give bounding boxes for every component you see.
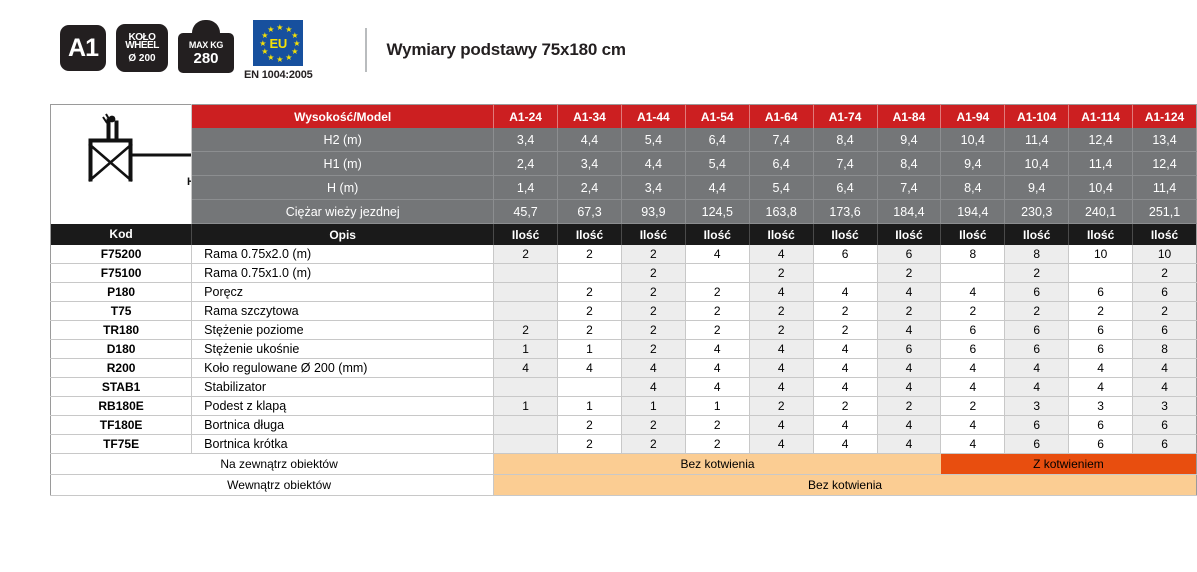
anchoring-value: Bez kotwienia xyxy=(494,475,1197,496)
part-quantity xyxy=(494,435,558,454)
part-quantity: 2 xyxy=(877,302,941,321)
part-quantity: 4 xyxy=(685,340,749,359)
spec-row: Ciężar wieży jezdnej45,767,393,9124,5163… xyxy=(51,200,1197,224)
part-quantity: 2 xyxy=(749,321,813,340)
spec-row: H1 (m)2,43,44,45,46,47,48,49,410,411,412… xyxy=(51,152,1197,176)
header-ilosc: Ilość xyxy=(1133,224,1197,246)
spec-value: 173,6 xyxy=(813,200,877,224)
part-quantity: 6 xyxy=(1005,321,1069,340)
part-quantity: 4 xyxy=(941,359,1005,378)
spec-value: 8,4 xyxy=(813,128,877,152)
part-quantity: 4 xyxy=(941,283,1005,302)
spec-value: 6,4 xyxy=(749,152,813,176)
table-row: F75100Rama 0.75x1.0 (m)22222 xyxy=(51,264,1197,283)
part-quantity: 1 xyxy=(494,397,558,416)
header-ilosc: Ilość xyxy=(749,224,813,246)
model-header-a1-124: A1-124 xyxy=(1133,105,1197,129)
part-quantity: 4 xyxy=(1069,359,1133,378)
spec-row-label: H (m) xyxy=(192,176,494,200)
part-quantity: 2 xyxy=(558,416,622,435)
spec-row: H2 (m)3,44,45,46,47,48,49,410,411,412,41… xyxy=(51,128,1197,152)
header-ilosc: Ilość xyxy=(813,224,877,246)
part-quantity: 2 xyxy=(749,397,813,416)
spec-value: 5,4 xyxy=(621,128,685,152)
part-quantity: 4 xyxy=(558,359,622,378)
part-quantity xyxy=(941,264,1005,283)
part-quantity: 4 xyxy=(813,416,877,435)
part-quantity: 2 xyxy=(685,321,749,340)
part-quantity: 2 xyxy=(941,302,1005,321)
part-code: STAB1 xyxy=(51,378,192,397)
part-quantity: 6 xyxy=(877,245,941,264)
part-quantity: 2 xyxy=(494,321,558,340)
spec-value: 4,4 xyxy=(558,128,622,152)
model-header-a1-74: A1-74 xyxy=(813,105,877,129)
spec-value: 67,3 xyxy=(558,200,622,224)
badge-wheel: KOŁO WHEEL Ø 200 xyxy=(116,24,168,72)
part-quantity: 6 xyxy=(877,340,941,359)
part-description: Podest z klapą xyxy=(192,397,494,416)
part-quantity: 4 xyxy=(813,378,877,397)
part-quantity: 4 xyxy=(1005,359,1069,378)
part-quantity xyxy=(494,264,558,283)
column-header-row: KodOpisIlośćIlośćIlośćIlośćIlośćIlośćIlo… xyxy=(51,224,1197,246)
part-quantity: 4 xyxy=(494,359,558,378)
diagram-cell: H1 H H2 xyxy=(51,105,192,224)
header-divider xyxy=(365,28,367,72)
part-quantity xyxy=(494,378,558,397)
header-ilosc: Ilość xyxy=(877,224,941,246)
part-quantity: 4 xyxy=(1133,359,1197,378)
spec-row-label: H1 (m) xyxy=(192,152,494,176)
part-quantity: 6 xyxy=(1005,435,1069,454)
part-quantity: 2 xyxy=(813,321,877,340)
part-description: Bortnica krótka xyxy=(192,435,494,454)
spec-value: 2,4 xyxy=(558,176,622,200)
table-row: TF180EBortnica długa2224444666 xyxy=(51,416,1197,435)
specification-table: H1 H H2 Wysokość/ModelA1-24A1-34A1-44A1-… xyxy=(50,104,1197,496)
part-quantity: 4 xyxy=(749,340,813,359)
part-quantity: 4 xyxy=(749,245,813,264)
part-quantity: 1 xyxy=(685,397,749,416)
badge-maxkg-value: 280 xyxy=(193,51,218,66)
table-row: T75Rama szczytowa2222222222 xyxy=(51,302,1197,321)
part-quantity: 2 xyxy=(749,264,813,283)
part-quantity: 10 xyxy=(1133,245,1197,264)
part-quantity: 2 xyxy=(621,435,685,454)
part-quantity: 4 xyxy=(1133,378,1197,397)
table-header-row: H1 H H2 Wysokość/ModelA1-24A1-34A1-44A1-… xyxy=(51,105,1197,129)
spec-value: 11,4 xyxy=(1005,128,1069,152)
badge-wheel-diameter: Ø 200 xyxy=(128,54,155,64)
table-row: P180Poręcz2224444666 xyxy=(51,283,1197,302)
spec-value: 8,4 xyxy=(941,176,1005,200)
badge-en-standard: EN 1004:2005 xyxy=(244,69,313,81)
part-quantity: 2 xyxy=(558,245,622,264)
part-description: Koło regulowane Ø 200 (mm) xyxy=(192,359,494,378)
anchoring-value: Z kotwieniem xyxy=(941,454,1197,475)
spec-value: 124,5 xyxy=(685,200,749,224)
part-quantity: 4 xyxy=(877,378,941,397)
table-row: F75200Rama 0.75x2.0 (m)2224466881010 xyxy=(51,245,1197,264)
header-opis: Opis xyxy=(192,224,494,246)
part-quantity xyxy=(1069,264,1133,283)
badge-eu-label: EU xyxy=(270,36,287,51)
page-header: A1 KOŁO WHEEL Ø 200 MAX KG 280 EU ★ ★ ★ … xyxy=(0,0,1197,100)
header-ilosc: Ilość xyxy=(685,224,749,246)
page-title: Wymiary podstawy 75x180 cm xyxy=(387,40,626,60)
part-quantity: 3 xyxy=(1069,397,1133,416)
eu-flag-icon: EU ★ ★ ★ ★ ★ ★ ★ ★ ★ ★ ★ ★ xyxy=(253,20,303,66)
spec-value: 9,4 xyxy=(941,152,1005,176)
table-row: R200Koło regulowane Ø 200 (mm)4444444444… xyxy=(51,359,1197,378)
part-quantity: 6 xyxy=(1133,435,1197,454)
part-description: Rama szczytowa xyxy=(192,302,494,321)
part-quantity: 4 xyxy=(621,378,685,397)
anchoring-label: Wewnątrz obiektów xyxy=(51,475,494,496)
badge-eu-norm: EU ★ ★ ★ ★ ★ ★ ★ ★ ★ ★ ★ ★ EN 1004:2005 xyxy=(244,20,313,81)
spec-value: 10,4 xyxy=(1069,176,1133,200)
table-row: RB180EPodest z klapą11112222333 xyxy=(51,397,1197,416)
part-quantity: 4 xyxy=(813,435,877,454)
part-quantity: 2 xyxy=(621,283,685,302)
part-code: TF180E xyxy=(51,416,192,435)
part-quantity: 2 xyxy=(877,397,941,416)
part-quantity: 1 xyxy=(621,397,685,416)
part-quantity: 4 xyxy=(877,321,941,340)
part-quantity: 2 xyxy=(558,302,622,321)
part-quantity: 2 xyxy=(877,264,941,283)
part-code: P180 xyxy=(51,283,192,302)
header-ilosc: Ilość xyxy=(494,224,558,246)
part-quantity: 4 xyxy=(749,283,813,302)
spec-row: H (m)1,42,43,44,45,46,47,48,49,410,411,4 xyxy=(51,176,1197,200)
header-kod: Kod xyxy=(51,224,192,246)
part-quantity: 2 xyxy=(685,302,749,321)
spec-value: 6,4 xyxy=(685,128,749,152)
spec-value: 4,4 xyxy=(685,176,749,200)
table-row: STAB1Stabilizator444444444 xyxy=(51,378,1197,397)
part-quantity: 2 xyxy=(1005,264,1069,283)
part-description: Stabilizator xyxy=(192,378,494,397)
part-code: TR180 xyxy=(51,321,192,340)
anchoring-row: Na zewnątrz obiektówBez kotwieniaZ kotwi… xyxy=(51,454,1197,475)
spec-value: 3,4 xyxy=(558,152,622,176)
spec-row-label: H2 (m) xyxy=(192,128,494,152)
part-quantity: 2 xyxy=(621,264,685,283)
spec-value: 8,4 xyxy=(877,152,941,176)
spec-value: 93,9 xyxy=(621,200,685,224)
part-description: Rama 0.75x1.0 (m) xyxy=(192,264,494,283)
header-wysokosc-model: Wysokość/Model xyxy=(192,105,494,129)
part-quantity: 10 xyxy=(1069,245,1133,264)
part-quantity: 2 xyxy=(1133,302,1197,321)
model-header-a1-114: A1-114 xyxy=(1069,105,1133,129)
part-quantity: 4 xyxy=(685,378,749,397)
part-quantity: 6 xyxy=(1069,283,1133,302)
anchoring-label: Na zewnątrz obiektów xyxy=(51,454,494,475)
part-quantity: 4 xyxy=(685,359,749,378)
spec-value: 10,4 xyxy=(1005,152,1069,176)
part-quantity: 2 xyxy=(685,435,749,454)
header-ilosc: Ilość xyxy=(941,224,1005,246)
part-description: Stężenie poziome xyxy=(192,321,494,340)
part-quantity: 4 xyxy=(749,416,813,435)
part-quantity: 4 xyxy=(877,416,941,435)
spec-value: 3,4 xyxy=(621,176,685,200)
part-quantity: 6 xyxy=(1005,416,1069,435)
spec-value: 4,4 xyxy=(621,152,685,176)
part-quantity: 2 xyxy=(621,340,685,359)
part-quantity: 4 xyxy=(749,435,813,454)
part-code: F75200 xyxy=(51,245,192,264)
part-quantity xyxy=(494,283,558,302)
badge-maxkg-label: MAX KG xyxy=(189,41,223,50)
part-code: RB180E xyxy=(51,397,192,416)
part-quantity: 6 xyxy=(1069,340,1133,359)
table-row: TR180Stężenie poziome22222246666 xyxy=(51,321,1197,340)
part-quantity: 4 xyxy=(813,340,877,359)
badge-wheel-label-en: WHEEL xyxy=(125,41,159,51)
spec-value: 10,4 xyxy=(941,128,1005,152)
spec-value: 7,4 xyxy=(813,152,877,176)
part-quantity: 4 xyxy=(749,359,813,378)
model-header-a1-54: A1-54 xyxy=(685,105,749,129)
spec-value: 163,8 xyxy=(749,200,813,224)
part-quantity: 6 xyxy=(941,340,1005,359)
table-row: D180Stężenie ukośnie11244466668 xyxy=(51,340,1197,359)
part-quantity: 6 xyxy=(1133,321,1197,340)
header-ilosc: Ilość xyxy=(1069,224,1133,246)
part-quantity: 4 xyxy=(1069,378,1133,397)
spec-value: 13,4 xyxy=(1133,128,1197,152)
part-quantity: 4 xyxy=(685,245,749,264)
anchoring-value: Bez kotwienia xyxy=(494,454,941,475)
scaffold-diagram: H1 H H2 xyxy=(51,105,192,220)
part-quantity: 8 xyxy=(941,245,1005,264)
part-quantity: 2 xyxy=(621,416,685,435)
part-quantity: 4 xyxy=(813,283,877,302)
part-quantity: 2 xyxy=(621,321,685,340)
spec-value: 5,4 xyxy=(685,152,749,176)
part-code: R200 xyxy=(51,359,192,378)
spec-value: 12,4 xyxy=(1133,152,1197,176)
part-quantity: 1 xyxy=(494,340,558,359)
spec-value: 2,4 xyxy=(494,152,558,176)
part-quantity: 2 xyxy=(685,283,749,302)
part-quantity: 8 xyxy=(1133,340,1197,359)
part-quantity xyxy=(685,264,749,283)
spec-value: 240,1 xyxy=(1069,200,1133,224)
part-quantity: 1 xyxy=(558,397,622,416)
model-header-a1-24: A1-24 xyxy=(494,105,558,129)
model-header-a1-94: A1-94 xyxy=(941,105,1005,129)
spec-value: 3,4 xyxy=(494,128,558,152)
part-quantity: 2 xyxy=(813,302,877,321)
part-quantity: 6 xyxy=(813,245,877,264)
anchoring-row: Wewnątrz obiektówBez kotwienia xyxy=(51,475,1197,496)
part-quantity: 2 xyxy=(1133,264,1197,283)
spec-value: 7,4 xyxy=(877,176,941,200)
part-quantity: 2 xyxy=(621,302,685,321)
part-quantity: 4 xyxy=(941,378,1005,397)
spec-value: 251,1 xyxy=(1133,200,1197,224)
part-quantity: 2 xyxy=(494,245,558,264)
part-quantity: 2 xyxy=(685,416,749,435)
spec-value: 9,4 xyxy=(877,128,941,152)
part-quantity: 2 xyxy=(941,397,1005,416)
part-description: Rama 0.75x2.0 (m) xyxy=(192,245,494,264)
spec-value: 11,4 xyxy=(1069,152,1133,176)
part-quantity: 6 xyxy=(1005,283,1069,302)
part-quantity: 2 xyxy=(1005,302,1069,321)
model-header-a1-84: A1-84 xyxy=(877,105,941,129)
part-quantity xyxy=(558,378,622,397)
spec-value: 230,3 xyxy=(1005,200,1069,224)
part-description: Poręcz xyxy=(192,283,494,302)
part-quantity: 2 xyxy=(621,245,685,264)
part-quantity: 4 xyxy=(877,283,941,302)
part-quantity: 6 xyxy=(1133,416,1197,435)
header-ilosc: Ilość xyxy=(558,224,622,246)
part-quantity: 8 xyxy=(1005,245,1069,264)
part-quantity: 2 xyxy=(558,283,622,302)
badge-a1-label: A1 xyxy=(68,34,98,63)
spec-value: 7,4 xyxy=(749,128,813,152)
part-quantity: 6 xyxy=(941,321,1005,340)
part-quantity xyxy=(558,264,622,283)
spec-value: 6,4 xyxy=(813,176,877,200)
spec-value: 12,4 xyxy=(1069,128,1133,152)
part-code: TF75E xyxy=(51,435,192,454)
part-quantity xyxy=(494,416,558,435)
spec-value: 194,4 xyxy=(941,200,1005,224)
spec-value: 1,4 xyxy=(494,176,558,200)
badge-max-load: MAX KG 280 xyxy=(178,20,234,74)
badge-group: A1 KOŁO WHEEL Ø 200 MAX KG 280 EU ★ ★ ★ … xyxy=(60,11,313,89)
part-quantity: 6 xyxy=(1133,283,1197,302)
part-quantity: 4 xyxy=(621,359,685,378)
header-ilosc: Ilość xyxy=(1005,224,1069,246)
part-description: Bortnica długa xyxy=(192,416,494,435)
part-quantity: 2 xyxy=(558,435,622,454)
model-header-a1-44: A1-44 xyxy=(621,105,685,129)
part-quantity: 2 xyxy=(813,397,877,416)
part-quantity: 2 xyxy=(749,302,813,321)
part-quantity xyxy=(494,302,558,321)
part-quantity: 4 xyxy=(749,378,813,397)
part-quantity: 6 xyxy=(1069,435,1133,454)
part-quantity: 4 xyxy=(941,416,1005,435)
part-quantity: 6 xyxy=(1005,340,1069,359)
part-quantity: 4 xyxy=(877,359,941,378)
header-ilosc: Ilość xyxy=(621,224,685,246)
part-quantity: 3 xyxy=(1005,397,1069,416)
part-quantity: 4 xyxy=(941,435,1005,454)
part-description: Stężenie ukośnie xyxy=(192,340,494,359)
model-header-a1-104: A1-104 xyxy=(1005,105,1069,129)
part-code: D180 xyxy=(51,340,192,359)
spec-row-label: Ciężar wieży jezdnej xyxy=(192,200,494,224)
part-quantity xyxy=(813,264,877,283)
part-quantity: 6 xyxy=(1069,321,1133,340)
badge-model-a1: A1 xyxy=(60,25,106,71)
model-header-a1-64: A1-64 xyxy=(749,105,813,129)
part-code: F75100 xyxy=(51,264,192,283)
model-header-a1-34: A1-34 xyxy=(558,105,622,129)
spec-value: 184,4 xyxy=(877,200,941,224)
part-quantity: 2 xyxy=(558,321,622,340)
part-quantity: 6 xyxy=(1069,416,1133,435)
spec-value: 45,7 xyxy=(494,200,558,224)
part-quantity: 4 xyxy=(877,435,941,454)
diagram-label-h: H xyxy=(187,176,192,188)
part-quantity: 4 xyxy=(813,359,877,378)
part-quantity: 1 xyxy=(558,340,622,359)
part-quantity: 4 xyxy=(1005,378,1069,397)
part-code: T75 xyxy=(51,302,192,321)
part-quantity: 3 xyxy=(1133,397,1197,416)
part-quantity: 2 xyxy=(1069,302,1133,321)
table-row: TF75EBortnica krótka2224444666 xyxy=(51,435,1197,454)
spec-value: 11,4 xyxy=(1133,176,1197,200)
spec-value: 5,4 xyxy=(749,176,813,200)
spec-value: 9,4 xyxy=(1005,176,1069,200)
